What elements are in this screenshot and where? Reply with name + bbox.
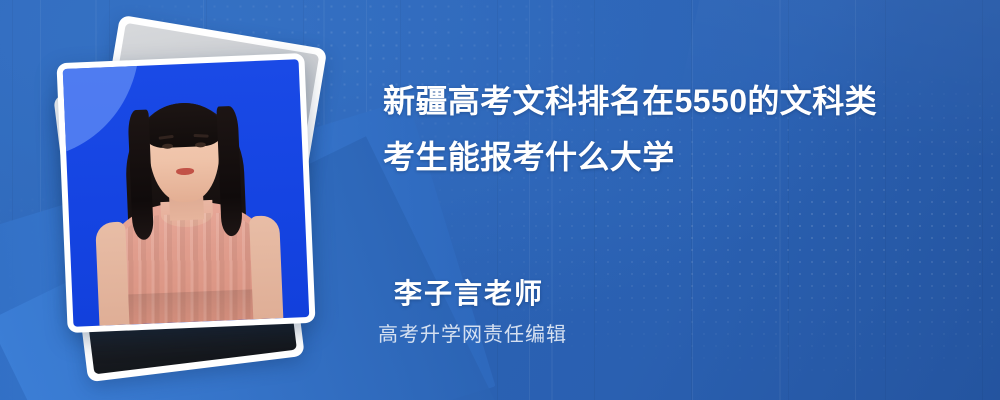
- portrait-hair-strand-right: [216, 106, 242, 237]
- portrait-arm-left: [95, 221, 129, 325]
- portrait-hair-front: [143, 102, 223, 149]
- portrait-eye-right: [195, 142, 206, 147]
- cover-title-line-1: 新疆高考文科排名在5550的文科类: [383, 83, 877, 119]
- author-name: 李子言老师: [394, 272, 544, 312]
- photo-card-stack: [44, 22, 344, 372]
- cover-text-column: 新疆高考文科排名在5550的文科类考生能报考什么大学 李子言老师 高考升学网责任…: [380, 0, 980, 400]
- portrait-eye-left: [162, 143, 173, 148]
- author-role: 高考升学网责任编辑: [378, 318, 567, 347]
- cover-title-line-2: 考生能报考什么大学: [383, 139, 675, 175]
- article-cover-banner: 新疆高考文科排名在5550的文科类考生能报考什么大学 李子言老师 高考升学网责任…: [0, 0, 1000, 400]
- portrait-arm-right: [249, 215, 283, 319]
- cover-title: 新疆高考文科排名在5550的文科类考生能报考什么大学: [383, 73, 961, 185]
- portrait-figure: [63, 59, 310, 327]
- portrait-dress-waist: [114, 289, 267, 325]
- editor-portrait-photo: [63, 59, 310, 327]
- photo-card-front: [56, 53, 315, 333]
